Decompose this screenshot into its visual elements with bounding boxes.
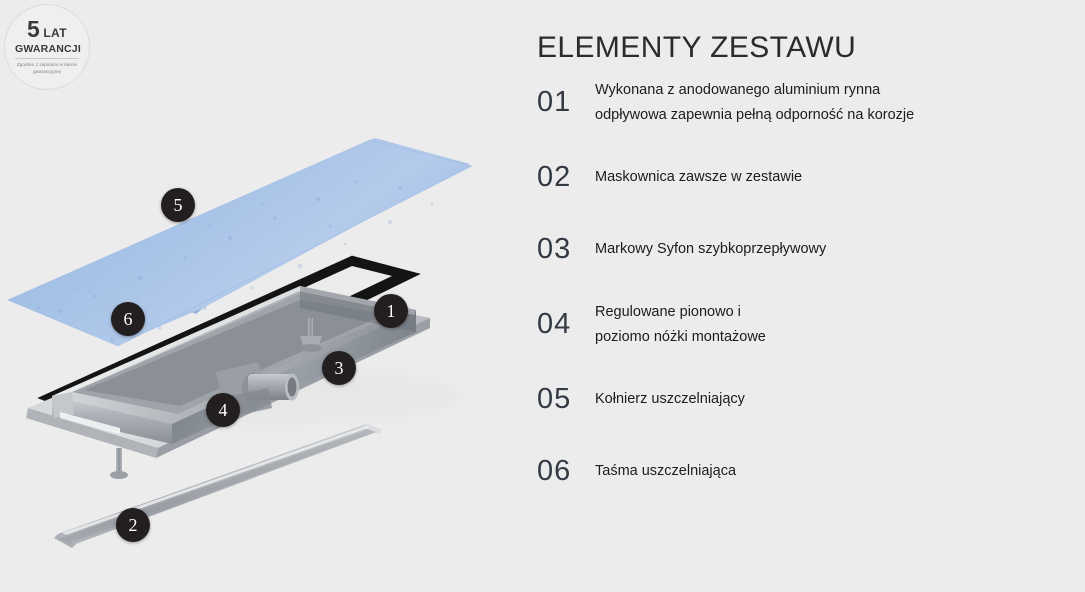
product-feature-section: 5 LAT GWARANCJI Zgodnie z zapisami w kar… — [0, 0, 1085, 592]
feature-number: 06 — [537, 457, 595, 486]
feature-item-02: 02 Maskownica zawsze w zestawie — [537, 156, 1057, 200]
feature-description-line-1: Regulowane pionowo i — [595, 300, 766, 325]
feature-description: Maskownica zawsze w zestawie — [595, 165, 802, 190]
callout-marker-5[interactable]: 5 — [161, 188, 195, 222]
feature-number: 05 — [537, 385, 595, 414]
warranty-badge: 5 LAT GWARANCJI Zgodnie z zapisami w kar… — [4, 4, 90, 90]
feature-panel: ELEMENTY ZESTAWU 01 Wykonana z anodowane… — [537, 0, 1057, 592]
feature-description-line-1: Maskownica zawsze w zestawie — [595, 165, 802, 190]
warranty-years-unit: LAT — [43, 27, 67, 39]
feature-description-line-2: poziomo nóżki montażowe — [595, 325, 766, 350]
feature-number: 01 — [537, 88, 595, 117]
feature-description: Wykonana z anodowanego aluminium rynna o… — [595, 78, 914, 128]
callout-marker-4[interactable]: 4 — [206, 393, 240, 427]
warranty-note: Zgodnie z zapisami w karcie gwarancyjnej — [15, 62, 79, 76]
feature-description: Kołnierz uszczelniający — [595, 387, 745, 412]
feature-list: 01 Wykonana z anodowanego aluminium rynn… — [537, 78, 1057, 522]
feature-number: 03 — [537, 235, 595, 264]
feature-item-04: 04 Regulowane pionowo i poziomo nóżki mo… — [537, 300, 1057, 350]
warranty-badge-headline: 5 LAT — [27, 18, 67, 41]
feature-item-03: 03 Markowy Syfon szybkoprzepływowy — [537, 228, 1057, 272]
feature-description: Regulowane pionowo i poziomo nóżki monta… — [595, 300, 766, 350]
warranty-years-value: 5 — [27, 18, 39, 41]
feature-item-05: 05 Kołnierz uszczelniający — [537, 378, 1057, 422]
feature-description-line-1: Taśma uszczelniająca — [595, 459, 736, 484]
feature-description-line-2: odpływowa zapewnia pełną odporność na ko… — [595, 103, 914, 128]
callout-marker-1[interactable]: 1 — [374, 294, 408, 328]
feature-item-06: 06 Taśma uszczelniająca — [537, 450, 1057, 494]
feature-description: Taśma uszczelniająca — [595, 459, 736, 484]
page-title: ELEMENTY ZESTAWU — [537, 31, 856, 65]
part-cover-plate — [54, 424, 382, 548]
product-exploded-view — [0, 96, 520, 566]
feature-description-line-1: Wykonana z anodowanego aluminium rynna — [595, 78, 914, 103]
feature-number: 04 — [537, 310, 595, 339]
feature-description-line-1: Markowy Syfon szybkoprzepływowy — [595, 237, 826, 262]
callout-marker-3[interactable]: 3 — [322, 351, 356, 385]
feature-number: 02 — [537, 163, 595, 192]
callout-marker-2[interactable]: 2 — [116, 508, 150, 542]
callout-marker-6[interactable]: 6 — [111, 302, 145, 336]
feature-description-line-1: Kołnierz uszczelniający — [595, 387, 745, 412]
feature-item-01: 01 Wykonana z anodowanego aluminium rynn… — [537, 78, 1057, 128]
feature-description: Markowy Syfon szybkoprzepływowy — [595, 237, 826, 262]
warranty-label: GWARANCJI — [15, 43, 79, 59]
